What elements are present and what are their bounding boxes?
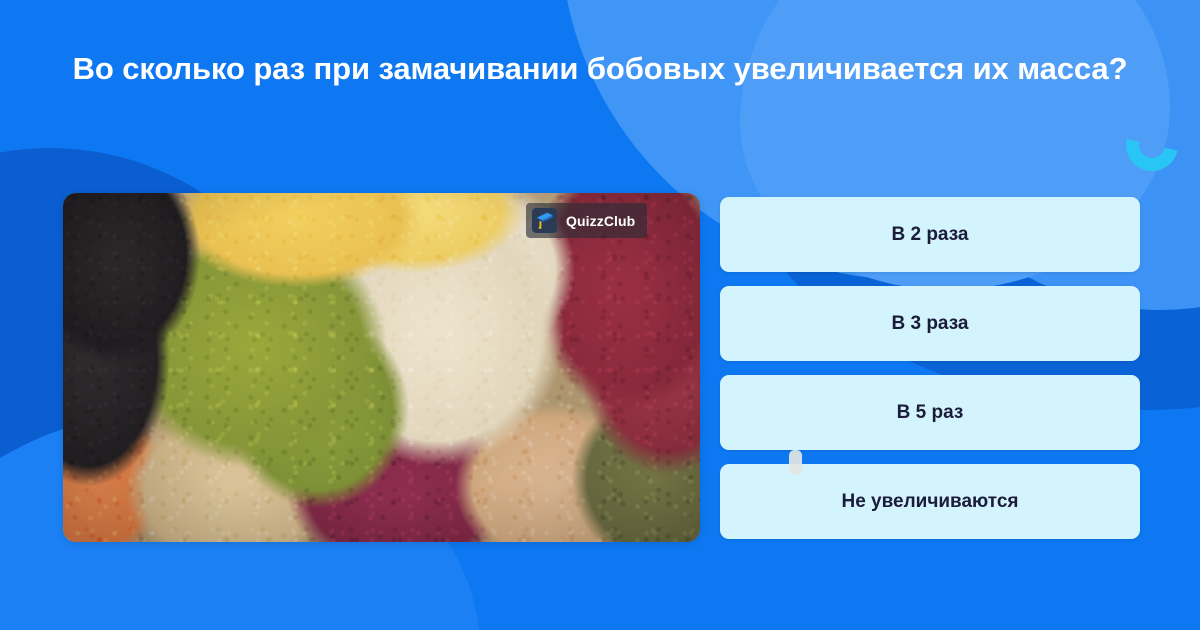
question-image-card (63, 193, 700, 542)
watermark-label: QuizzClub (566, 213, 635, 229)
photo-vignette-overlay (63, 193, 700, 542)
answer-options-list: В 2 раза В 3 раза В 5 раз Не увеличивают… (720, 197, 1140, 539)
answer-option-1-label: В 2 раза (891, 224, 968, 246)
answer-option-4[interactable]: Не увеличиваются (720, 464, 1140, 539)
mouse-cursor-artifact (789, 450, 802, 475)
graduation-cap-icon (532, 208, 557, 233)
answer-option-1[interactable]: В 2 раза (720, 197, 1140, 272)
question-title: Во сколько раз при замачивании бобовых у… (60, 48, 1140, 89)
answer-option-4-label: Не увеличиваются (841, 491, 1018, 513)
answer-option-2-label: В 3 раза (891, 313, 968, 335)
answer-option-3[interactable]: В 5 раз (720, 375, 1140, 450)
answer-option-3-label: В 5 раз (897, 402, 964, 424)
quizzclub-watermark: QuizzClub (526, 203, 647, 238)
answer-option-2[interactable]: В 3 раза (720, 286, 1140, 361)
